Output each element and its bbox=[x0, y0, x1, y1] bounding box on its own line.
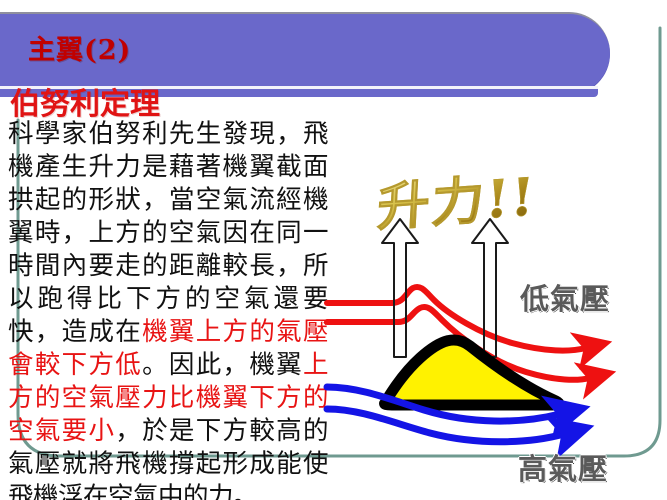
low-pressure-label: 低氣壓 bbox=[520, 276, 610, 318]
airfoil-shape bbox=[385, 340, 559, 405]
lower-streamlines bbox=[327, 387, 564, 442]
body-run-2: 。因此，機翼 bbox=[142, 350, 303, 380]
high-pressure-label: 高氣壓 bbox=[518, 446, 608, 488]
body-run-0: 科學家伯努利先生發現，飛機產生升力是藉著機翼截面拱起的形狀，當空氣流經機翼時，上… bbox=[8, 119, 328, 347]
section-heading: 伯努利定理 bbox=[10, 79, 160, 123]
slide-canvas: 主翼(2) 伯努利定理 科學家伯努利先生發現，飛機產生升力是藉著機翼截面拱起的形… bbox=[0, 0, 667, 500]
body-paragraph: 科學家伯努利先生發現，飛機產生升力是藉著機翼截面拱起的形狀，當空氣流經機翼時，上… bbox=[8, 118, 328, 500]
page-title: 主翼(2) bbox=[28, 28, 131, 67]
lift-arrows bbox=[382, 219, 508, 357]
lift-label: 升力!! bbox=[376, 155, 539, 241]
